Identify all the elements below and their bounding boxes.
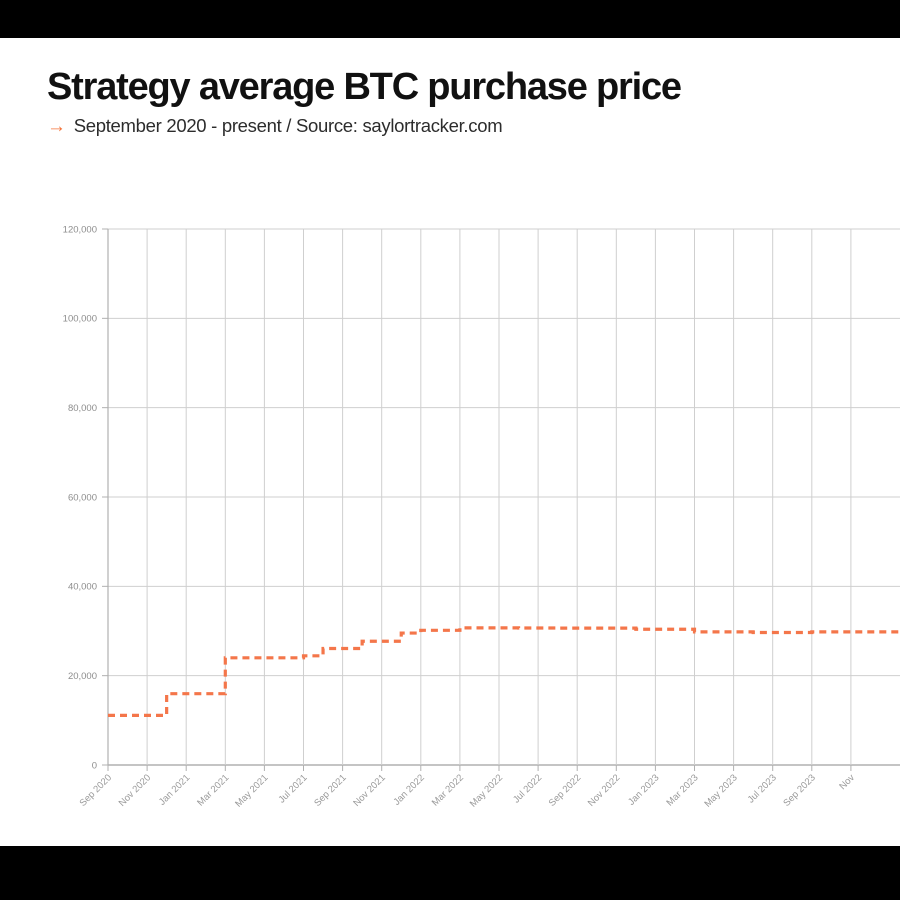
x-tick-label: Nov 2020: [117, 772, 154, 809]
chart-subtitle-text: September 2020 - present / Source: saylo…: [74, 115, 503, 137]
line-chart-svg: 020,00040,00060,00080,000100,000120,000 …: [0, 148, 900, 846]
data-series-line: [108, 628, 900, 715]
y-tick-label: 40,000: [68, 582, 97, 593]
chart-subtitle: → September 2020 - present / Source: say…: [47, 115, 867, 137]
x-tick-label: May 2022: [468, 772, 505, 809]
chart-header: Strategy average BTC purchase price → Se…: [47, 68, 867, 137]
x-tick-label: Mar 2021: [195, 772, 231, 808]
x-axis-tick-marks: [108, 765, 851, 771]
x-tick-label: Nov 2022: [586, 772, 623, 809]
x-tick-label: Jan 2022: [391, 772, 426, 807]
x-tick-label: Jan 2023: [626, 772, 661, 807]
letterbox-bottom-bar: [0, 846, 900, 900]
y-tick-label: 20,000: [68, 671, 97, 682]
y-axis-tick-marks: [102, 229, 108, 765]
x-tick-label: Nov 2021: [351, 772, 388, 809]
y-tick-label: 80,000: [68, 403, 97, 414]
y-tick-label: 0: [92, 760, 97, 771]
slide-canvas: Strategy average BTC purchase price → Se…: [0, 38, 900, 846]
x-tick-label: Jan 2021: [157, 772, 192, 807]
y-tick-label: 120,000: [63, 224, 97, 235]
page-title: Strategy average BTC purchase price: [47, 68, 867, 108]
y-tick-label: 60,000: [68, 492, 97, 503]
x-tick-label: Mar 2022: [430, 772, 466, 808]
x-tick-label: May 2021: [233, 772, 270, 809]
letterbox-top-bar: [0, 0, 900, 38]
x-tick-label: May 2023: [702, 772, 739, 809]
x-axis-tick-labels: Sep 2020Nov 2020Jan 2021Mar 2021May 2021…: [78, 772, 858, 809]
chart-plot-area: 020,00040,00060,00080,000100,000120,000 …: [0, 148, 900, 846]
x-tick-label: Nov: [837, 772, 857, 792]
x-tick-label: Jul 2023: [746, 772, 779, 805]
x-tick-label: Sep 2023: [781, 772, 818, 809]
series-line-avg-btc-price: [108, 628, 900, 715]
x-tick-label: Sep 2022: [547, 772, 584, 809]
x-tick-label: Mar 2023: [664, 772, 700, 808]
x-tick-label: Sep 2020: [78, 772, 115, 809]
x-tick-label: Sep 2021: [312, 772, 349, 809]
x-tick-label: Jul 2021: [276, 772, 309, 805]
y-axis-tick-labels: 020,00040,00060,00080,000100,000120,000: [63, 224, 97, 771]
x-tick-label: Jul 2022: [511, 772, 544, 805]
arrow-right-icon: →: [47, 117, 66, 136]
y-tick-label: 100,000: [63, 314, 97, 325]
slide-frame: Strategy average BTC purchase price → Se…: [0, 0, 900, 900]
